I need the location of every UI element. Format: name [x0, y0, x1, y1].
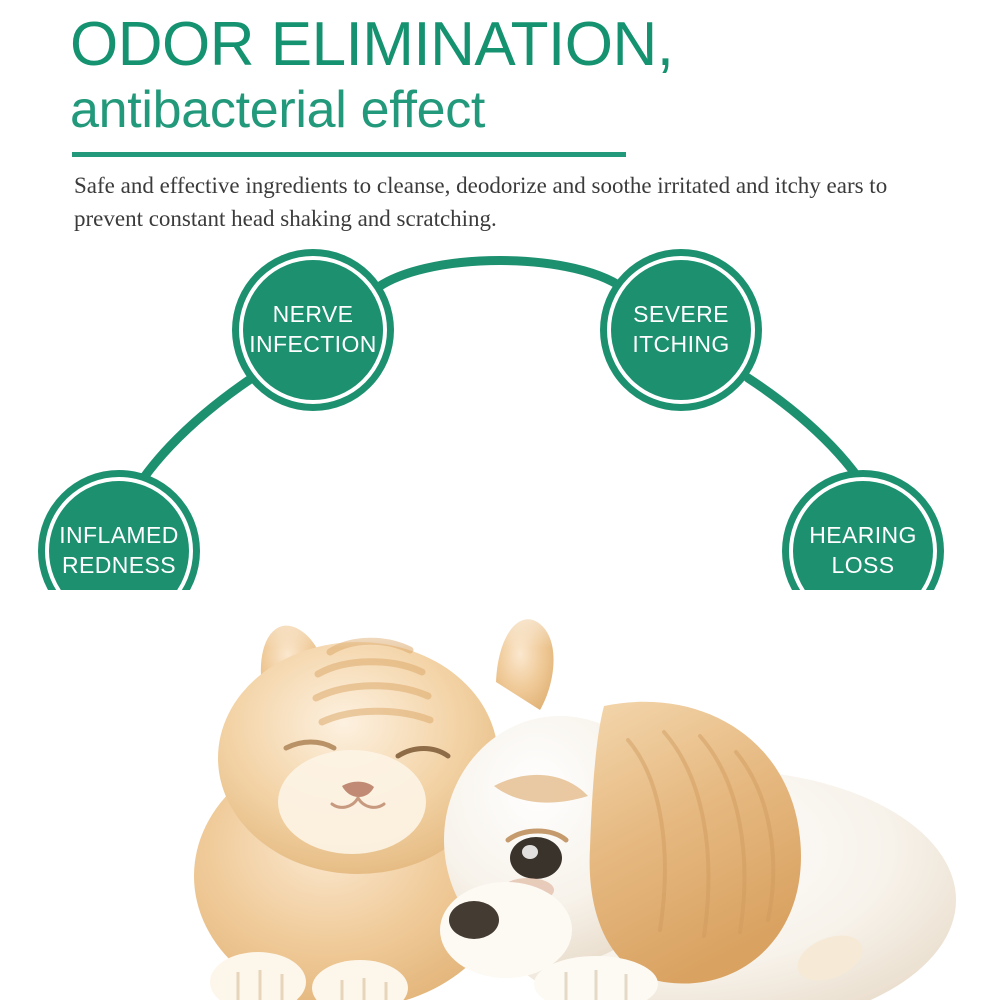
- arc-top: [372, 261, 628, 293]
- badge-label-line2: ITCHING: [632, 330, 729, 360]
- badge-label-line2: INFECTION: [249, 330, 377, 360]
- badge-label-line1: HEARING: [809, 521, 917, 551]
- badge-label-line1: SEVERE: [633, 300, 729, 330]
- badge-label-line2: LOSS: [832, 551, 895, 581]
- badge-label-line1: INFLAMED: [59, 521, 179, 551]
- badge-severe-itching[interactable]: SEVERE ITCHING: [600, 249, 762, 411]
- infographic-page: ODOR ELIMINATION, antibacterial effect S…: [0, 0, 1000, 1000]
- pet-photo: [0, 590, 1000, 1000]
- badge-label-line1: NERVE: [273, 300, 354, 330]
- kitten-and-puppy-illustration: [0, 590, 1000, 1000]
- badge-nerve-infection[interactable]: NERVE INFECTION: [232, 249, 394, 411]
- badge-label-line2: REDNESS: [62, 551, 176, 581]
